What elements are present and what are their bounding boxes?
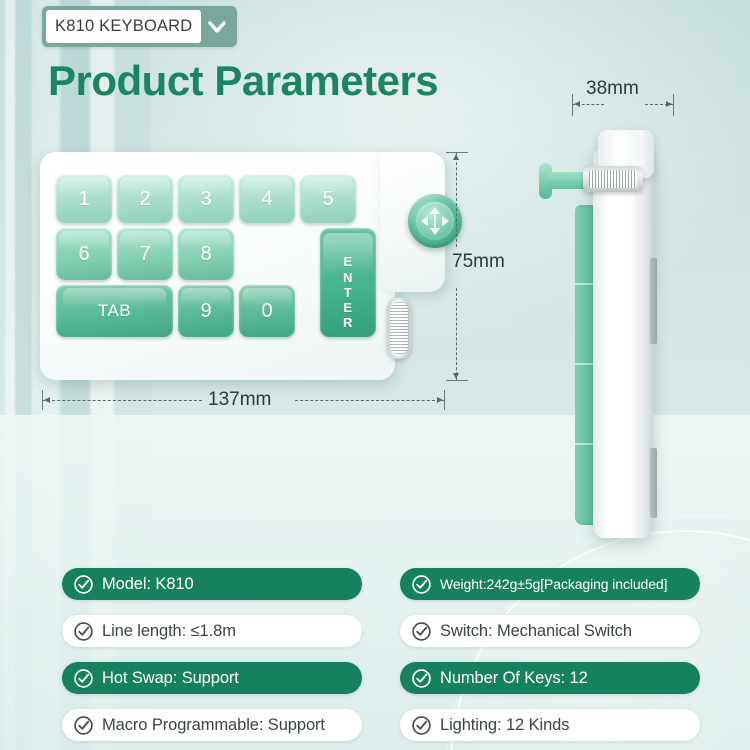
keyboard-top-view: 1 2 3 4 5 6 7 8 E N T E R bbox=[40, 152, 445, 380]
dimension-width-line-left bbox=[42, 400, 202, 401]
key-5[interactable]: 5 bbox=[300, 175, 356, 223]
key-3[interactable]: 3 bbox=[178, 175, 234, 223]
side-view-port-upper bbox=[650, 258, 657, 344]
dimension-depth-label: 38mm bbox=[586, 78, 639, 100]
feature-pill: Number Of Keys: 12 bbox=[400, 662, 700, 694]
dimension-width-cap-left bbox=[42, 390, 43, 410]
check-circle-icon bbox=[73, 715, 94, 736]
check-circle-icon bbox=[411, 668, 432, 689]
feature-pill-label: Line length: ≤1.8m bbox=[102, 622, 236, 641]
key-0[interactable]: 0 bbox=[239, 285, 295, 337]
feature-pill-label: Switch: Mechanical Switch bbox=[440, 622, 632, 641]
dimension-width-line-right bbox=[295, 400, 445, 401]
side-view-port-lower bbox=[650, 448, 657, 518]
feature-pill-label: Number Of Keys: 12 bbox=[440, 669, 588, 688]
key-9[interactable]: 9 bbox=[178, 285, 234, 337]
feature-pill: Model: K810 bbox=[62, 568, 362, 600]
feature-pill: Lighting: 12 Kinds bbox=[400, 709, 700, 741]
dimension-width-label: 137mm bbox=[208, 389, 271, 411]
dimension-arrow-down-icon bbox=[453, 373, 459, 379]
key-tab[interactable]: TAB bbox=[56, 285, 173, 337]
dpad-joystick-icon[interactable] bbox=[408, 194, 462, 248]
keycap-row-1: 1 2 3 4 5 bbox=[56, 175, 376, 223]
dimension-arrow-left-icon bbox=[574, 101, 580, 107]
enter-letter: E bbox=[343, 254, 352, 269]
product-selector-dropdown[interactable]: K810 KEYBOARD bbox=[42, 6, 237, 47]
keycap-grid: 1 2 3 4 5 6 7 8 E N T E R bbox=[56, 175, 376, 342]
dimension-arrow-right-icon bbox=[666, 101, 672, 107]
check-circle-icon bbox=[73, 574, 94, 595]
feature-pill-label: Weight:242g±5g[Packaging included] bbox=[440, 576, 667, 592]
feature-pill-label: Model: K810 bbox=[102, 575, 194, 594]
dimension-arrow-up-icon bbox=[453, 154, 459, 160]
dimension-height-label: 75mm bbox=[452, 251, 505, 273]
dimension-depth-cap-right bbox=[673, 94, 674, 116]
check-circle-icon bbox=[411, 574, 432, 595]
dimension-depth-cap-left bbox=[572, 94, 573, 116]
dimension-height-cap-top bbox=[446, 152, 468, 153]
key-2[interactable]: 2 bbox=[117, 175, 173, 223]
check-circle-icon bbox=[73, 668, 94, 689]
arrow-down-icon bbox=[430, 228, 440, 235]
side-view-shell bbox=[593, 148, 653, 538]
feature-pill: Hot Swap: Support bbox=[62, 662, 362, 694]
key-1[interactable]: 1 bbox=[56, 175, 112, 223]
dimension-height-line-bottom bbox=[456, 288, 457, 380]
dimension-height-line-top bbox=[456, 152, 457, 247]
feature-pill: Line length: ≤1.8m bbox=[62, 615, 362, 647]
joystick-stem bbox=[434, 214, 436, 228]
side-view-scroll-wheel-icon[interactable] bbox=[583, 166, 643, 192]
chevron-down-icon[interactable] bbox=[201, 10, 233, 43]
feature-pill: Switch: Mechanical Switch bbox=[400, 615, 700, 647]
arrow-up-icon bbox=[430, 207, 440, 214]
page-title: Product Parameters bbox=[48, 57, 438, 105]
arrow-left-icon bbox=[421, 216, 428, 226]
keyboard-side-view bbox=[575, 130, 685, 540]
feature-pill-label: Macro Programmable: Support bbox=[102, 716, 325, 735]
key-8[interactable]: 8 bbox=[178, 228, 234, 280]
side-view-scroll-ridges bbox=[589, 170, 637, 188]
page-background: K810 KEYBOARD Product Parameters 1 2 3 4… bbox=[0, 0, 750, 750]
feature-pill: Macro Programmable: Support bbox=[62, 709, 362, 741]
enter-letter: N bbox=[343, 270, 353, 285]
scroll-wheel-icon[interactable] bbox=[387, 297, 411, 359]
feature-pill: Weight:242g±5g[Packaging included] bbox=[400, 568, 700, 600]
keycap-row-2: 6 7 8 E N T E R bbox=[56, 228, 376, 280]
keycap-row-3: TAB 9 0 bbox=[56, 285, 376, 337]
dropdown-value[interactable]: K810 KEYBOARD bbox=[46, 10, 201, 43]
dimension-arrow-left-icon bbox=[44, 397, 50, 403]
check-circle-icon bbox=[73, 621, 94, 642]
key-6[interactable]: 6 bbox=[56, 228, 112, 280]
dimension-arrow-right-icon bbox=[437, 397, 443, 403]
check-circle-icon bbox=[411, 715, 432, 736]
dimension-height-cap-bottom bbox=[446, 380, 468, 381]
key-7[interactable]: 7 bbox=[117, 228, 173, 280]
scroll-wheel-ridges bbox=[390, 302, 408, 354]
feature-pill-label: Lighting: 12 Kinds bbox=[440, 716, 569, 735]
key-4[interactable]: 4 bbox=[239, 175, 295, 223]
dimension-width-cap-right bbox=[444, 390, 445, 410]
joystick-inner bbox=[416, 202, 454, 240]
arrow-right-icon bbox=[442, 216, 449, 226]
feature-pill-label: Hot Swap: Support bbox=[102, 669, 239, 688]
check-circle-icon bbox=[411, 621, 432, 642]
